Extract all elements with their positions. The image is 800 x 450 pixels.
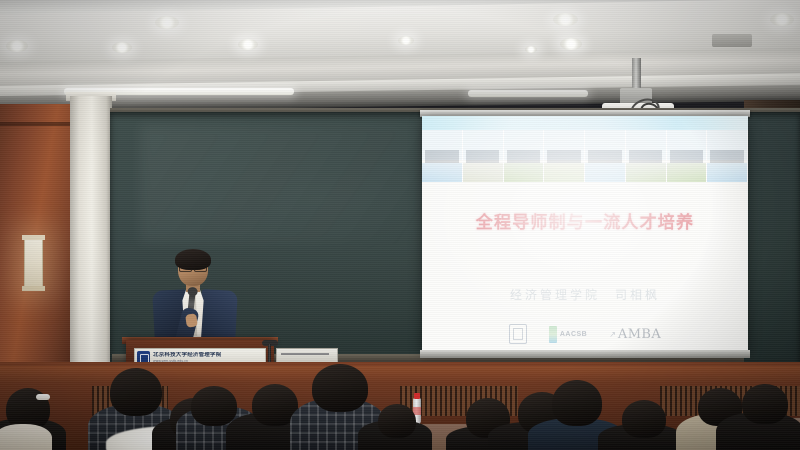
slide-photo-collage <box>422 130 748 182</box>
audience-head <box>552 380 602 426</box>
ceiling-strip-light <box>468 90 588 97</box>
speaker-hand <box>185 313 198 327</box>
slide-subtitle: 经济管理学院 司相枫 <box>422 286 748 303</box>
hair-clip <box>36 394 50 400</box>
collage-photo <box>667 130 708 182</box>
wood-panel-segment <box>358 366 480 384</box>
wood-panel-segment <box>718 366 800 384</box>
aacsb-logo: AACSB <box>549 326 587 343</box>
collage-photo <box>544 130 585 182</box>
projector-mount-pole <box>632 58 641 92</box>
speaker-glasses-icon <box>179 265 207 270</box>
audience-head <box>312 364 368 412</box>
collage-photo <box>585 130 626 182</box>
ceiling-light-icon <box>553 13 578 26</box>
amba-swoosh-icon: ↗ <box>609 330 616 339</box>
ceiling-light-icon <box>238 39 258 50</box>
wall-sconce-light <box>24 238 43 288</box>
collage-photo <box>707 130 748 182</box>
lecture-hall-photo: 全程导师制与一流人才培养 经济管理学院 司相枫 AACSB ↗ AMBA <box>0 0 800 450</box>
wood-panel-segment <box>598 366 720 384</box>
projection-screen: 全程导师制与一流人才培养 经济管理学院 司相枫 AACSB ↗ AMBA <box>422 116 748 352</box>
aacsb-label: AACSB <box>560 331 587 338</box>
collage-photo <box>463 130 504 182</box>
slide-accreditation-logos: AACSB ↗ AMBA <box>422 324 748 344</box>
collage-photo <box>422 130 463 182</box>
audience-shoulders <box>0 424 52 450</box>
amba-label: AMBA <box>618 327 661 342</box>
ceiling-vent <box>712 34 752 47</box>
screen-bottom-weight-bar <box>420 350 750 358</box>
aacsb-mark-icon <box>549 326 557 343</box>
wall-pilaster-column <box>70 96 112 386</box>
audience-head <box>622 400 666 438</box>
ceiling-light-icon <box>112 42 132 53</box>
collage-photo <box>626 130 667 182</box>
podium-sign-text: 北京科技大学经济管理学院 <box>153 352 221 359</box>
collage-photo <box>504 130 545 182</box>
ceiling-light-icon <box>770 13 794 26</box>
lectern-notice-card <box>276 348 338 363</box>
ceiling-light-icon <box>525 46 537 53</box>
wood-panel-segment <box>0 366 122 384</box>
ceiling-light-icon <box>560 38 582 50</box>
audience-head <box>378 404 416 438</box>
ceiling-light-icon <box>398 36 414 45</box>
ceiling-light-icon <box>6 40 28 52</box>
audience-head <box>742 384 788 424</box>
slide-title: 全程导师制与一流人才培养 <box>422 208 748 233</box>
amba-logo: ↗ AMBA <box>609 327 661 342</box>
university-seal-icon <box>509 324 527 344</box>
audience-head <box>191 386 237 426</box>
audience-head <box>110 368 162 416</box>
presentation-slide: 全程导师制与一流人才培养 经济管理学院 司相枫 AACSB ↗ AMBA <box>422 116 748 352</box>
slide-top-band <box>422 116 748 130</box>
ceiling-light-icon <box>155 16 179 29</box>
